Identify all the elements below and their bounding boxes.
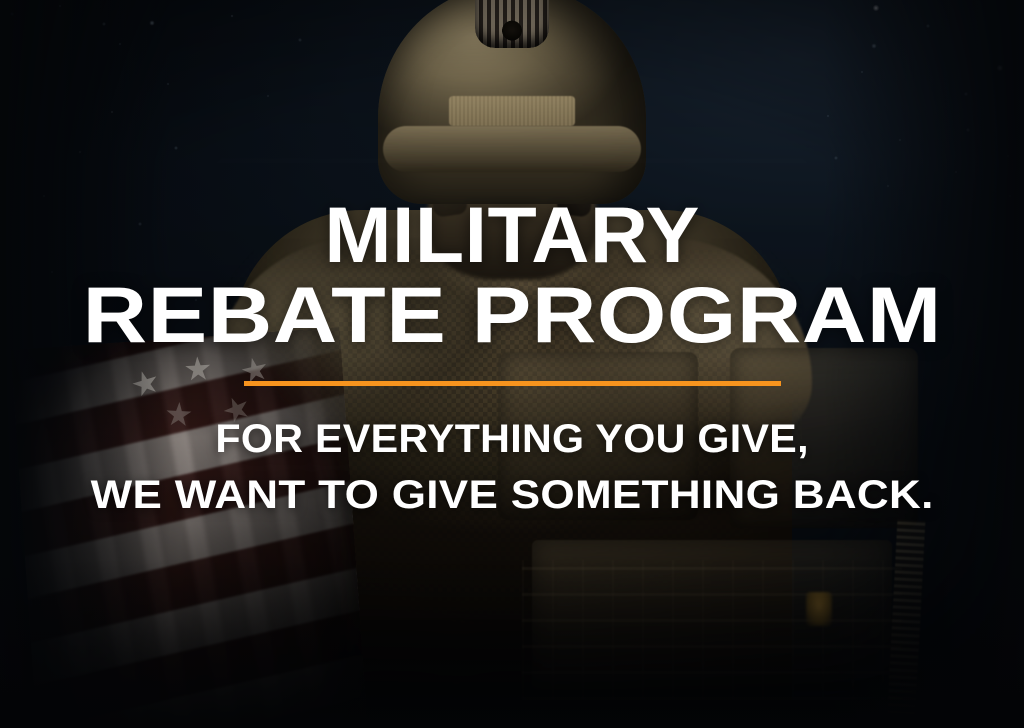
headline-line-2: REBATE PROGRAM [82, 278, 941, 352]
headline-line-1: MILITARY [324, 198, 700, 272]
military-rebate-banner: MILITARY REBATE PROGRAM FOR EVERYTHING Y… [0, 0, 1024, 728]
subheadline-line-2: WE WANT TO GIVE SOMETHING BACK. [90, 472, 933, 519]
banner-content: MILITARY REBATE PROGRAM FOR EVERYTHING Y… [0, 0, 1024, 728]
subheadline-line-1: FOR EVERYTHING YOU GIVE, [215, 416, 808, 463]
orange-divider-rule [244, 381, 781, 386]
